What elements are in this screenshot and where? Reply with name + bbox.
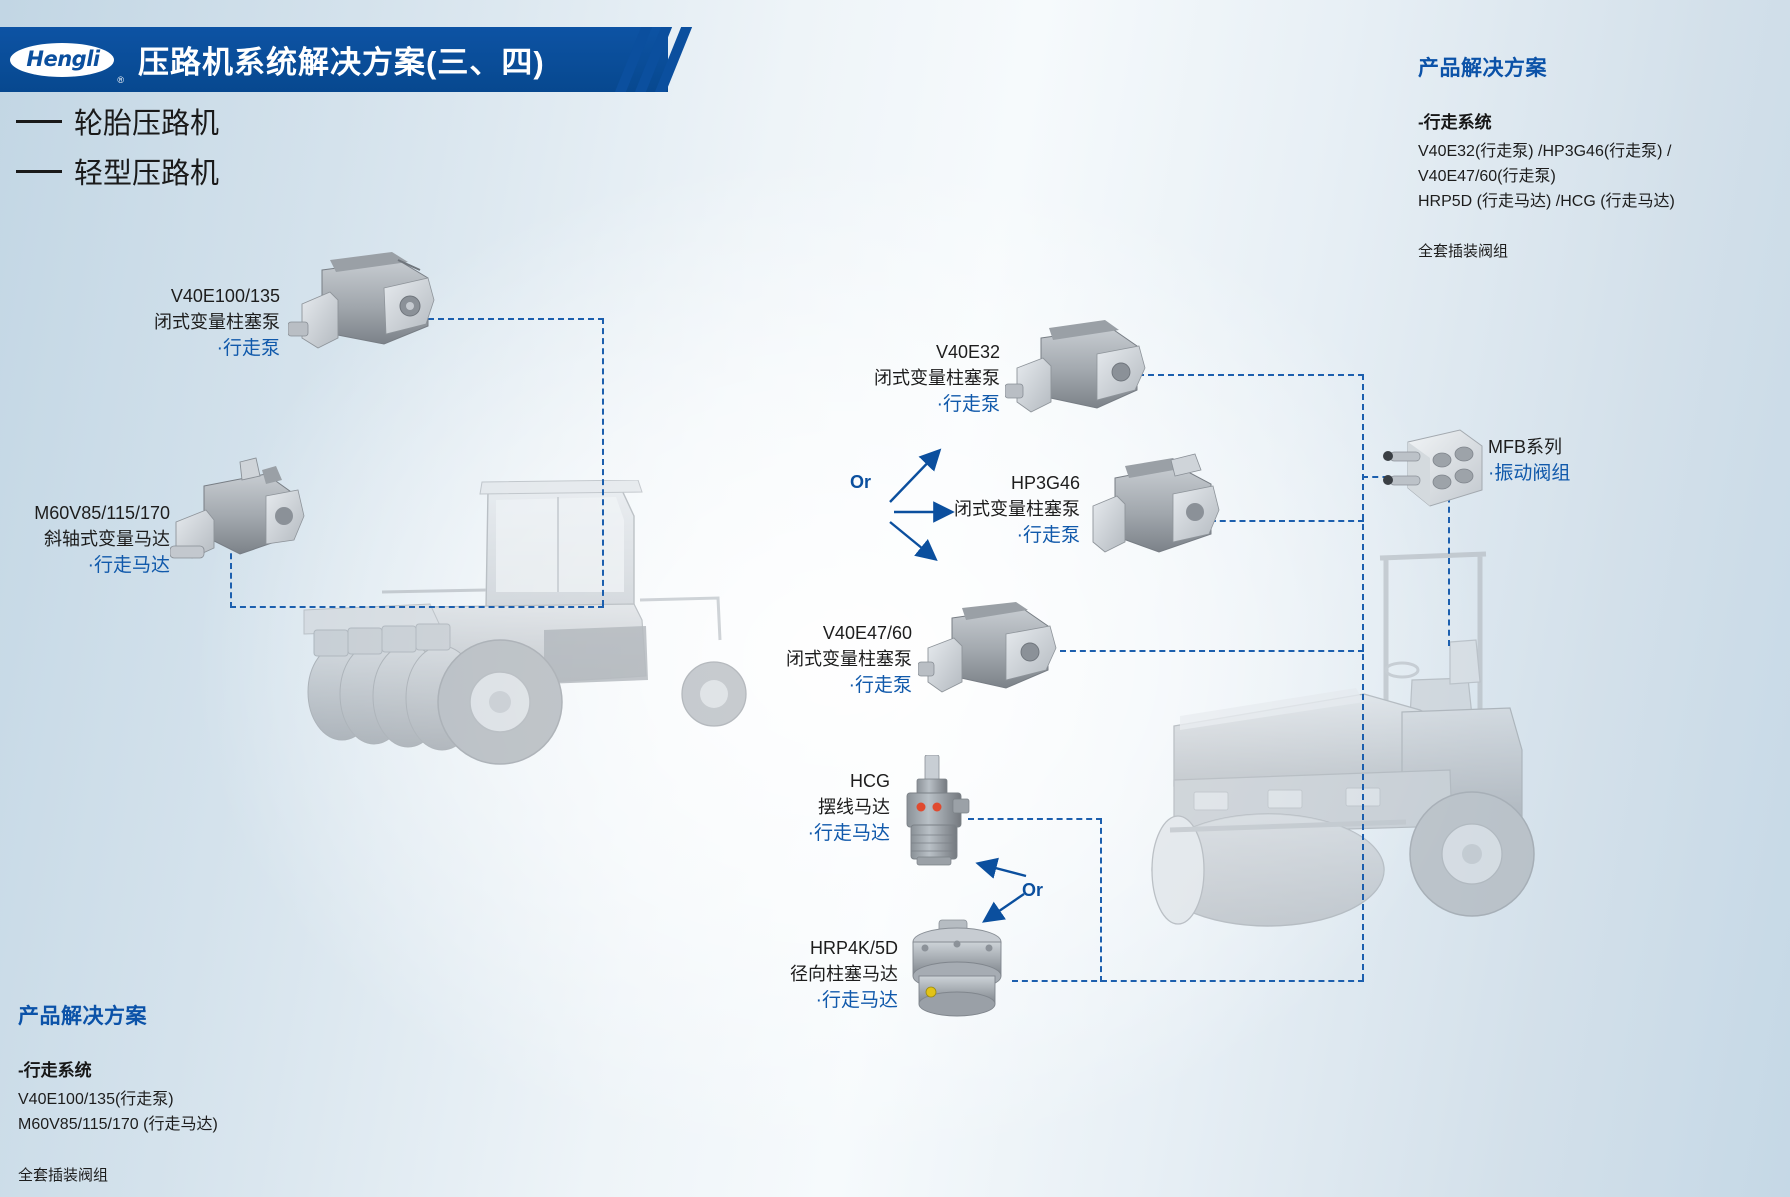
solution-heading: 产品解决方案 bbox=[18, 1000, 358, 1030]
product-photo-hp3g46 bbox=[1085, 452, 1235, 572]
hengli-logo: Hengli ® bbox=[10, 41, 116, 79]
connector-v40e100-vertical bbox=[602, 318, 604, 606]
connector-hrp4k-horizontal bbox=[1012, 980, 1364, 982]
product-code: HP3G46 bbox=[910, 470, 1080, 496]
product-code: HCG bbox=[720, 768, 890, 794]
solution-block-bottom-left: 产品解决方案 -行走系统 V40E100/135(行走泵) M60V85/115… bbox=[18, 1000, 358, 1185]
solution-line: V40E100/135(行走泵) bbox=[18, 1088, 358, 1113]
product-role: ·行走泵 bbox=[100, 335, 280, 363]
solution-heading: 产品解决方案 bbox=[1418, 52, 1758, 82]
product-role: ·行走泵 bbox=[910, 522, 1080, 550]
product-role: ·行走马达 bbox=[720, 987, 898, 1015]
product-photo-m60v85 bbox=[170, 450, 320, 585]
product-label-m60v85: M60V85/115/170 斜轴式变量马达 ·行走马达 bbox=[0, 500, 170, 580]
solution-system-title: -行走系统 bbox=[1418, 108, 1758, 133]
or-label-bottom: Or bbox=[1022, 880, 1043, 901]
product-code: V40E47/60 bbox=[742, 620, 912, 646]
tyre-roller-illustration bbox=[290, 480, 760, 770]
product-desc: 闭式变量柱塞泵 bbox=[100, 309, 280, 335]
product-photo-v40e100 bbox=[288, 248, 448, 378]
connector-hcg-horizontal bbox=[968, 818, 1102, 820]
product-label-mfb: MFB系列 ·振动阀组 bbox=[1488, 434, 1668, 488]
header-bar: Hengli ® 压路机系统解决方案(三、四) bbox=[0, 27, 668, 92]
registered-trademark-icon: ® bbox=[117, 75, 124, 85]
product-photo-hcg-motor bbox=[895, 755, 973, 875]
product-role: ·行走马达 bbox=[720, 820, 890, 848]
solution-line: V40E32(行走泵) /HP3G46(行走泵) / bbox=[1418, 140, 1758, 165]
product-code: MFB系列 bbox=[1488, 434, 1668, 460]
product-photo-mfb-valve bbox=[1378, 424, 1488, 519]
product-desc: 摆线马达 bbox=[720, 794, 890, 820]
connector-v40e32-horizontal bbox=[1128, 374, 1364, 376]
product-label-hrp4k5d: HRP4K/5D 径向柱塞马达 ·行走马达 bbox=[720, 935, 898, 1015]
product-role: ·行走马达 bbox=[0, 552, 170, 580]
connector-v40e100-horizontal bbox=[428, 318, 604, 320]
connector-hcg-vertical bbox=[1100, 818, 1102, 982]
product-label-hp3g46: HP3G46 闭式变量柱塞泵 ·行走泵 bbox=[910, 470, 1080, 550]
subtitle-item-light-roller: 轻型压路机 bbox=[16, 150, 219, 192]
product-label-v40e32: V40E32 闭式变量柱塞泵 ·行走泵 bbox=[830, 339, 1000, 419]
solution-line: M60V85/115/170 (行走马达) bbox=[18, 1113, 358, 1138]
light-roller-illustration bbox=[1150, 530, 1570, 950]
poster-canvas: Hengli ® 压路机系统解决方案(三、四) 轮胎压路机 轻型压路机 bbox=[0, 0, 1790, 1197]
product-role: ·行走泵 bbox=[742, 672, 912, 700]
product-code: M60V85/115/170 bbox=[0, 500, 170, 526]
product-role: ·振动阀组 bbox=[1488, 460, 1668, 488]
subtitle-list: 轮胎压路机 轻型压路机 bbox=[16, 100, 219, 200]
solution-note: 全套插装阀组 bbox=[1418, 240, 1758, 261]
product-code: HRP4K/5D bbox=[720, 935, 898, 961]
product-code: V40E100/135 bbox=[100, 283, 280, 309]
or-label-top: Or bbox=[850, 472, 871, 493]
subtitle-label: 轻型压路机 bbox=[74, 150, 219, 192]
product-photo-v40e4760 bbox=[918, 600, 1068, 710]
product-desc: 闭式变量柱塞泵 bbox=[910, 496, 1080, 522]
solution-block-top-right: 产品解决方案 -行走系统 V40E32(行走泵) /HP3G46(行走泵) / … bbox=[1418, 52, 1758, 261]
subtitle-item-tyre-roller: 轮胎压路机 bbox=[16, 100, 219, 142]
product-desc: 闭式变量柱塞泵 bbox=[742, 646, 912, 672]
product-label-v40e4760: V40E47/60 闭式变量柱塞泵 ·行走泵 bbox=[742, 620, 912, 700]
subtitle-label: 轮胎压路机 bbox=[74, 100, 219, 142]
product-label-hcg: HCG 摆线马达 ·行走马达 bbox=[720, 768, 890, 848]
solution-system-title: -行走系统 bbox=[18, 1056, 358, 1081]
connector-right-trunk-vertical bbox=[1362, 374, 1364, 980]
dash-icon bbox=[16, 170, 62, 173]
connector-m60v85-horizontal bbox=[230, 606, 604, 608]
dash-icon bbox=[16, 120, 62, 123]
product-role: ·行走泵 bbox=[830, 391, 1000, 419]
logo-wordmark: Hengli bbox=[26, 47, 99, 71]
page-title: 压路机系统解决方案(三、四) bbox=[138, 37, 545, 82]
product-desc: 闭式变量柱塞泵 bbox=[830, 365, 1000, 391]
solution-note: 全套插装阀组 bbox=[18, 1164, 358, 1185]
product-code: V40E32 bbox=[830, 339, 1000, 365]
product-desc: 斜轴式变量马达 bbox=[0, 526, 170, 552]
product-label-v40e100: V40E100/135 闭式变量柱塞泵 ·行走泵 bbox=[100, 283, 280, 363]
solution-line: V40E47/60(行走泵) bbox=[1418, 165, 1758, 190]
product-photo-v40e32 bbox=[1005, 318, 1155, 433]
connector-v40e4760-horizontal bbox=[1060, 650, 1364, 652]
product-photo-hrp4k5d-motor bbox=[905, 918, 1010, 1023]
solution-line: HRP5D (行走马达) /HCG (行走马达) bbox=[1418, 190, 1758, 215]
product-desc: 径向柱塞马达 bbox=[720, 961, 898, 987]
